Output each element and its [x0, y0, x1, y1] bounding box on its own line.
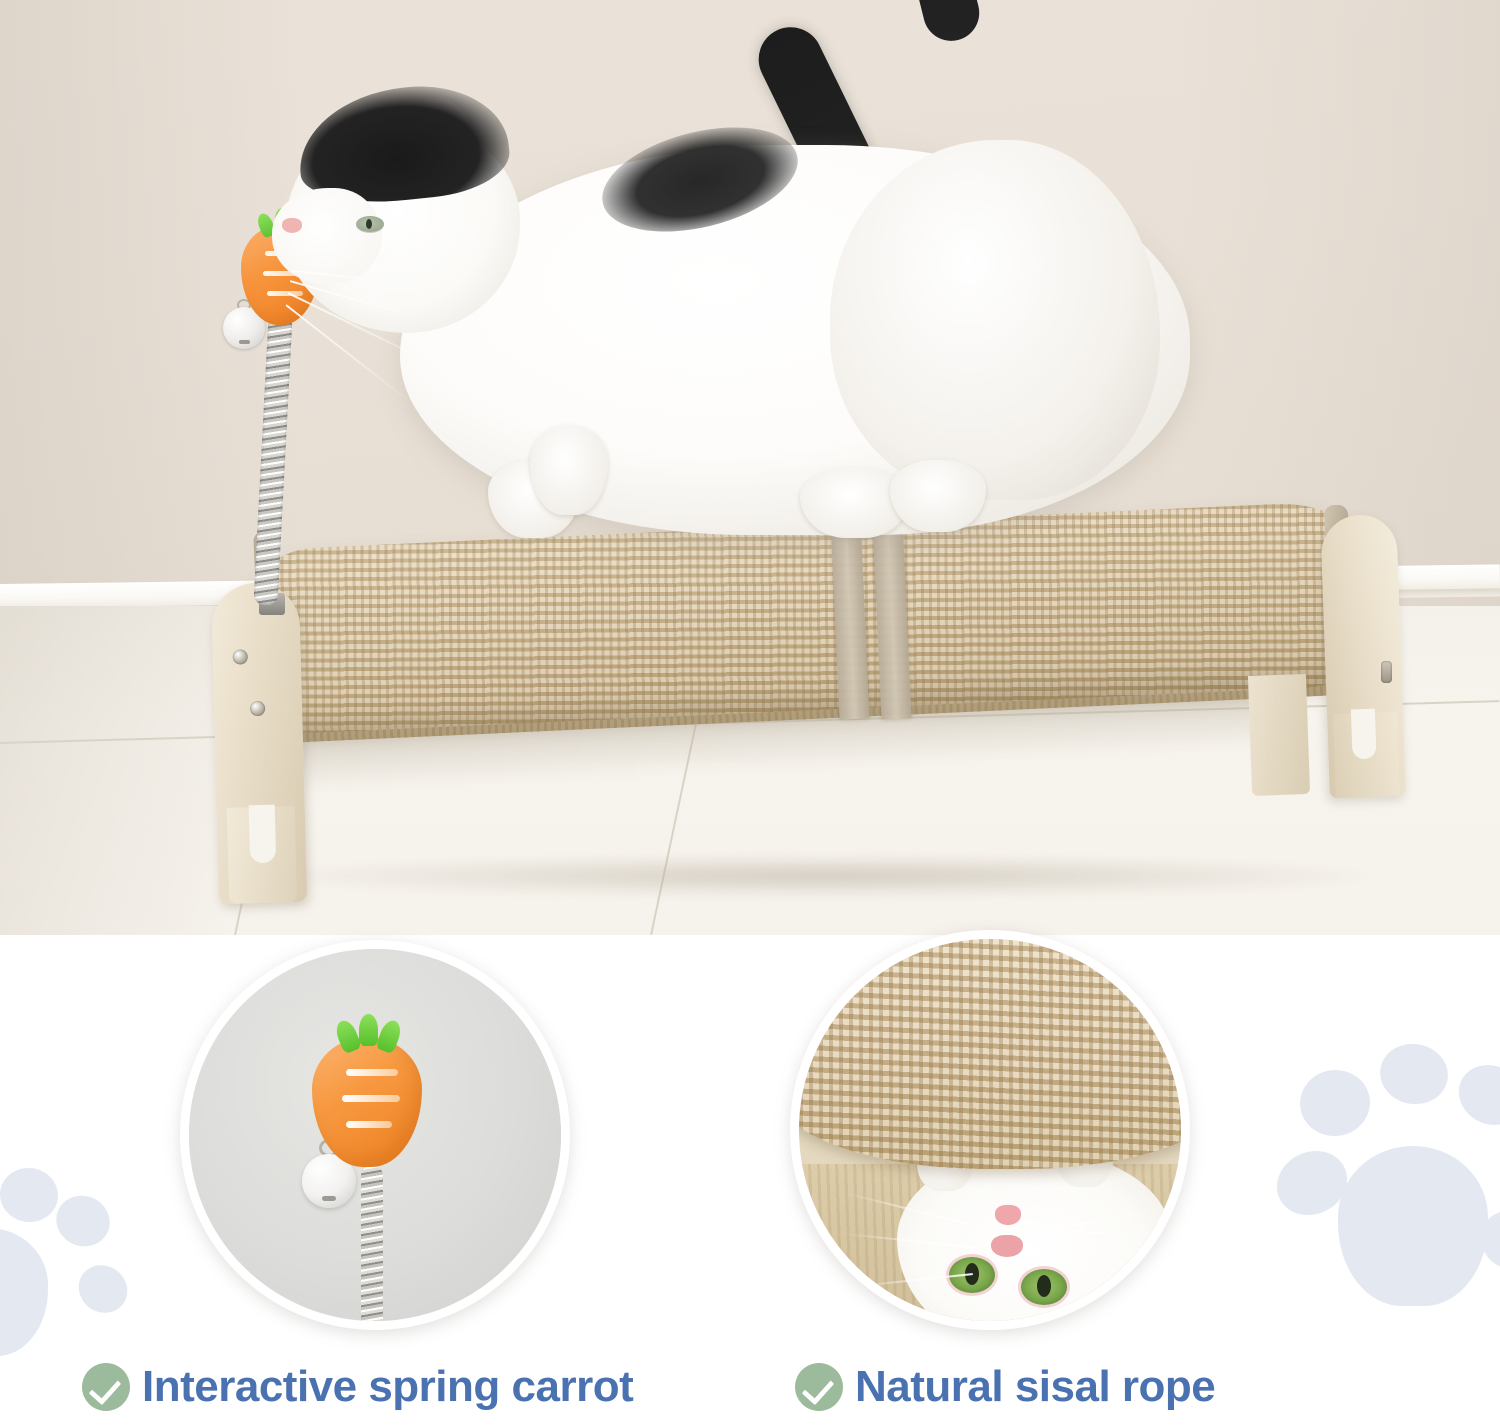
- check-circle-icon: [82, 1363, 130, 1411]
- scratcher-inner-leg: [1248, 674, 1310, 796]
- feature-caption-spring-carrot: Interactive spring carrot: [82, 1362, 633, 1412]
- carrot-stitch: [346, 1121, 392, 1128]
- check-circle-icon: [795, 1363, 843, 1411]
- paw-pad: [1338, 1146, 1488, 1306]
- screw-icon: [250, 701, 265, 716]
- pawprint-right: [1268, 1060, 1500, 1340]
- paw-toe: [1375, 1039, 1452, 1110]
- cat-mouth: [991, 1235, 1023, 1257]
- carrot-stitch: [346, 1069, 398, 1076]
- feature-caption-row: Interactive spring carrot Natural sisal …: [0, 1350, 1500, 1427]
- cat-nose: [282, 218, 302, 233]
- leg-notch: [1333, 712, 1400, 798]
- feature-caption-label: Interactive spring carrot: [142, 1362, 633, 1412]
- hero-product-photo: [0, 0, 1500, 935]
- feature-caption-label: Natural sisal rope: [855, 1362, 1215, 1412]
- cat-eye: [356, 216, 384, 232]
- cat-haunch: [830, 140, 1160, 500]
- leg-notch: [227, 806, 297, 904]
- plywood-end-panel-left: [211, 582, 307, 904]
- cat-paw: [530, 425, 608, 515]
- cat-eye: [1021, 1269, 1067, 1305]
- carrot-leaf-icon: [359, 1014, 378, 1046]
- feature-caption-sisal-rope: Natural sisal rope: [795, 1362, 1215, 1412]
- paw-toe: [69, 1255, 137, 1322]
- carrot-stitch: [342, 1095, 400, 1102]
- cat-paw: [890, 460, 986, 532]
- paw-toe: [48, 1187, 118, 1255]
- scratcher-ground-shadow: [265, 855, 1385, 897]
- screw-icon: [1381, 661, 1392, 683]
- paw-toe: [1296, 1065, 1375, 1140]
- cat-nose: [995, 1205, 1021, 1225]
- paw-toe: [1448, 1054, 1500, 1136]
- coil-spring: [361, 1167, 383, 1330]
- sisal-weave-texture: [790, 930, 1190, 1169]
- screw-icon: [233, 649, 248, 664]
- inset-spring-carrot: [180, 940, 570, 1330]
- pawprint-left: [0, 1160, 158, 1370]
- cat-photo-subject: [230, 70, 1390, 590]
- cat-muzzle: [272, 188, 382, 284]
- paw-pad: [0, 1228, 48, 1356]
- paw-toe: [0, 1164, 61, 1226]
- inset-sisal-rope: [790, 930, 1190, 1330]
